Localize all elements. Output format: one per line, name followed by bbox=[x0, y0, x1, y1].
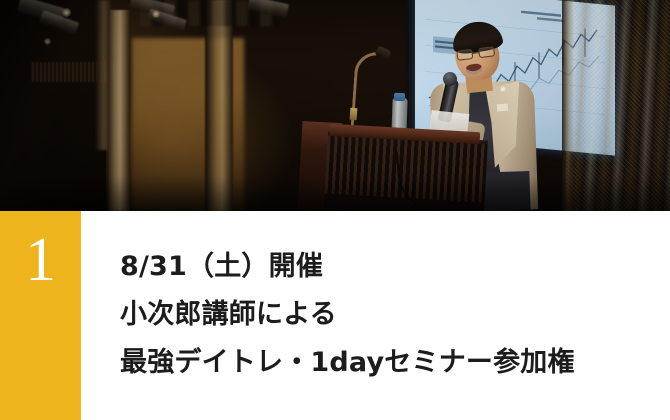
seminar-photo bbox=[0, 0, 670, 211]
spotlight-icon bbox=[62, 8, 71, 17]
spotlight-icon bbox=[152, 10, 160, 18]
caption-area: 1 8/31（土）開催 小次郎講師による 最強デイトレ・1dayセミナー参加権 bbox=[0, 211, 670, 420]
stage-drape-left bbox=[108, 10, 130, 211]
lapel-pin-icon bbox=[500, 86, 506, 92]
seminar-benefit-card: 1 8/31（土）開催 小次郎講師による 最強デイトレ・1dayセミナー参加権 bbox=[0, 0, 670, 420]
headline-line-2: 小次郎講師による bbox=[120, 291, 650, 339]
water-bottle-cap bbox=[394, 93, 405, 101]
curtain-bottom-shadow bbox=[566, 150, 670, 211]
gooseneck-microphone-arm bbox=[350, 51, 389, 136]
left-wall bbox=[0, 0, 106, 211]
microphone-base-joint bbox=[350, 108, 358, 120]
headline-line-3: 最強デイトレ・1dayセミナー参加権 bbox=[120, 339, 650, 387]
headline-block: 8/31（土）開催 小次郎講師による 最強デイトレ・1dayセミナー参加権 bbox=[120, 243, 650, 387]
headline-line-1: 8/31（土）開催 bbox=[120, 243, 650, 291]
spotlight-icon bbox=[44, 38, 51, 45]
pocket-square bbox=[497, 104, 508, 112]
item-number-value: 1 bbox=[0, 229, 81, 291]
stage-pillar bbox=[205, 0, 233, 211]
item-number-badge: 1 bbox=[0, 211, 81, 420]
